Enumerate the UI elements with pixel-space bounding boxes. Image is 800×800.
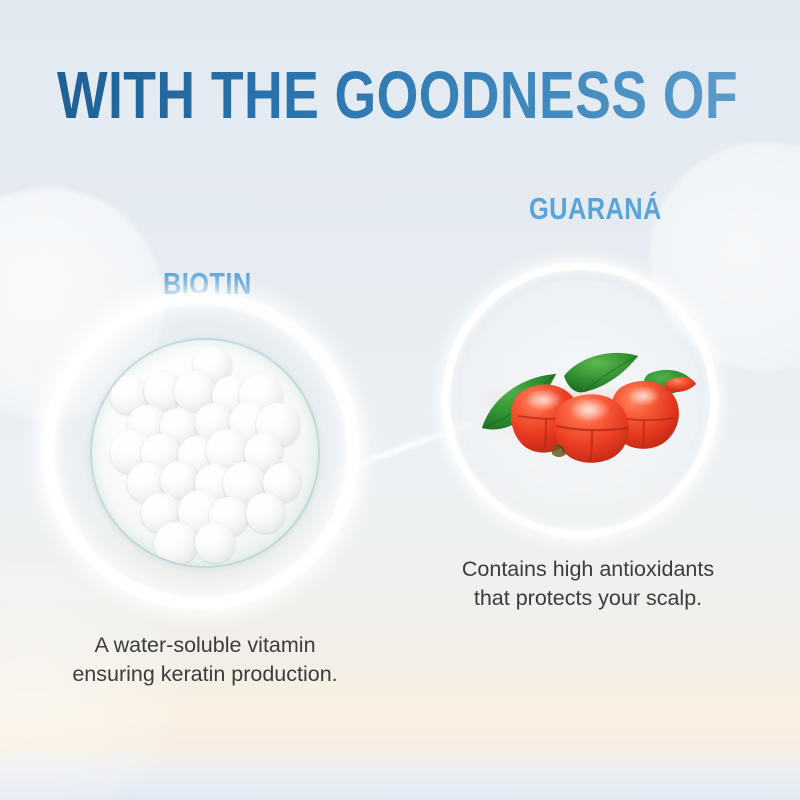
- ingredient-image-guarana: [442, 262, 718, 538]
- guarana-fruit-icon: [452, 332, 708, 482]
- pellet-icon: [246, 493, 285, 532]
- pellet-icon: [195, 522, 236, 563]
- petri-dish-icon: [90, 338, 320, 568]
- ingredient-poster: WITH THE GOODNESS OF BIOTIN GUARANÁ: [0, 0, 800, 800]
- ingredient-description-guarana: Contains high antioxidants that protects…: [418, 555, 758, 612]
- pellet-icon: [154, 522, 197, 565]
- ingredient-label-guarana: GUARANÁ: [529, 191, 662, 227]
- ingredient-image-biotin: [42, 292, 360, 610]
- page-title: WITH THE GOODNESS OF: [57, 62, 738, 129]
- ingredient-description-biotin: A water-soluble vitamin ensuring keratin…: [40, 631, 370, 688]
